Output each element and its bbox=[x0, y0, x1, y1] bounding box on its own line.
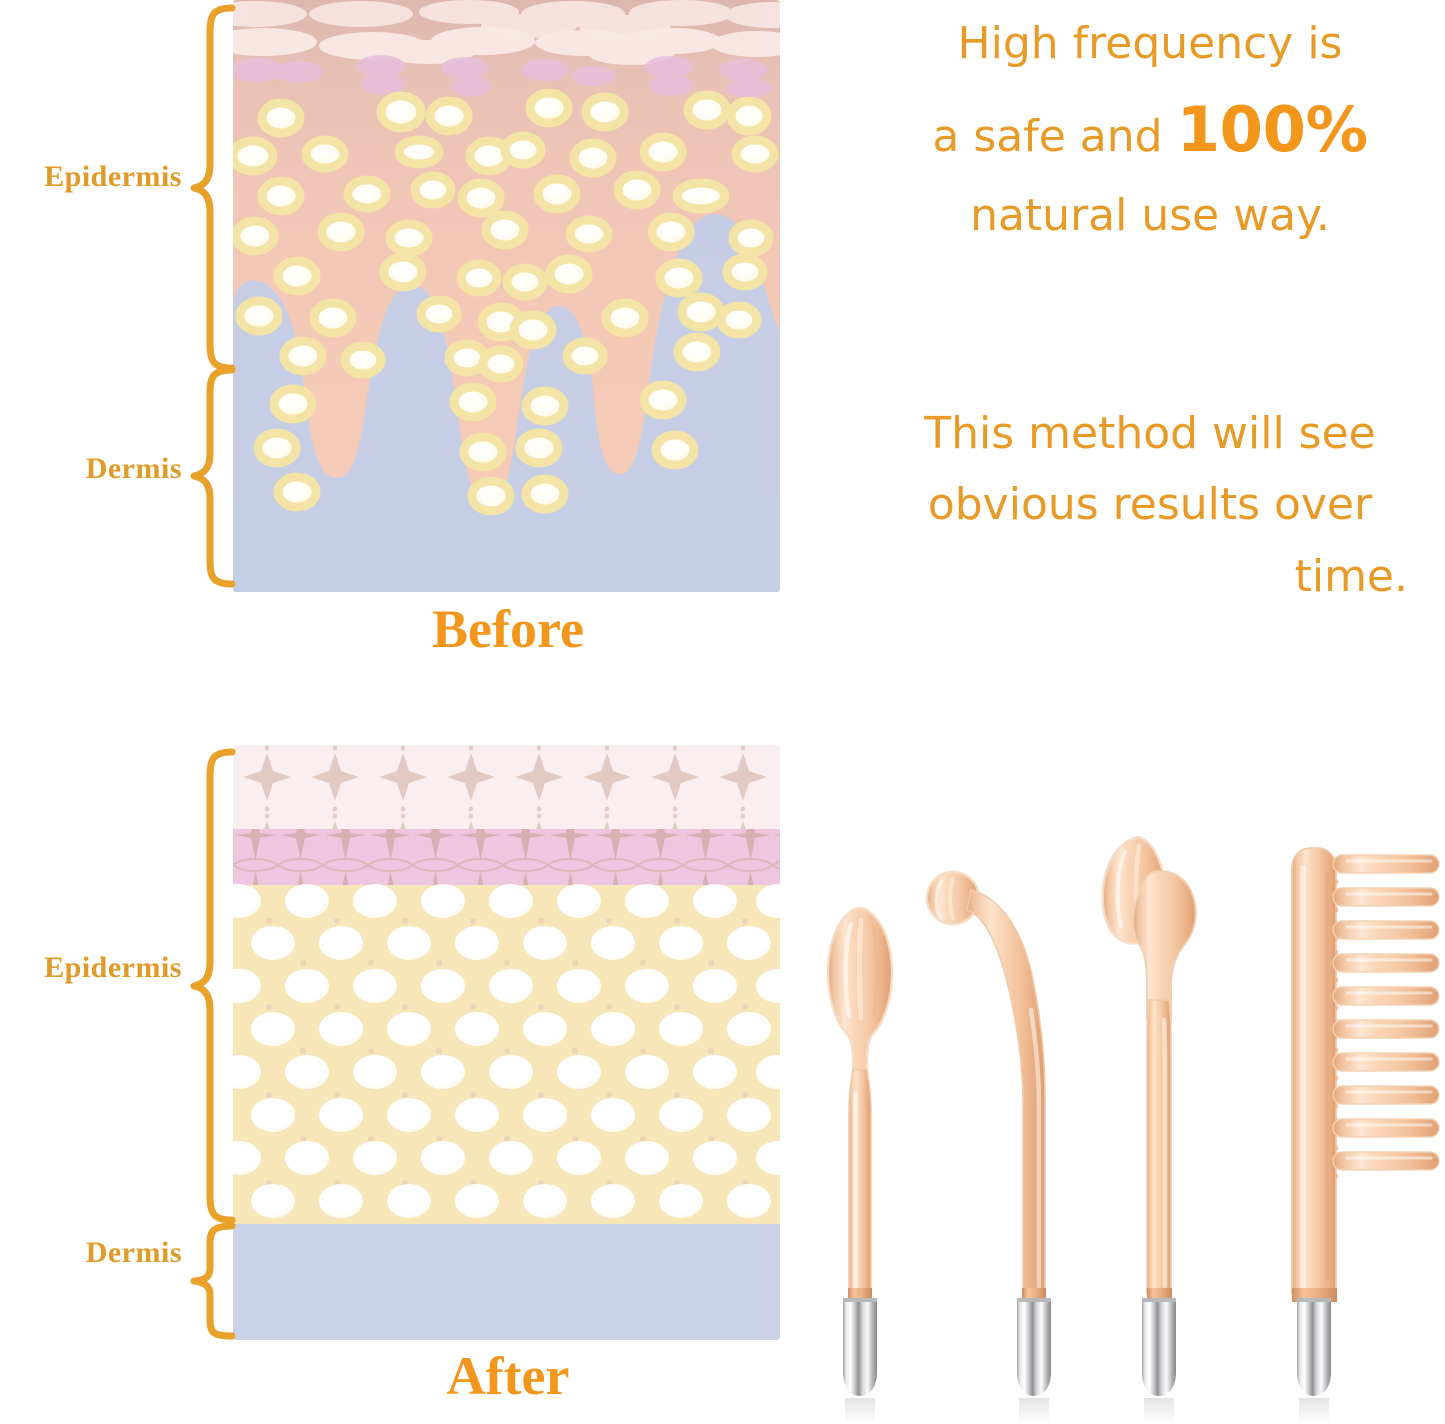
safety-claim-line-1: High frequency is bbox=[872, 8, 1428, 79]
bent-mushroom-electrode-wand bbox=[1103, 837, 1196, 1424]
safety-claim-line-2: a safe and 100% bbox=[872, 79, 1428, 180]
results-claim-line-1: This method will see bbox=[872, 398, 1428, 469]
after-dermis-label: Dermis bbox=[0, 1236, 182, 1270]
results-claim-line-3: time. bbox=[872, 541, 1428, 612]
electrode-wand-group bbox=[795, 820, 1445, 1424]
bent-ball-electrode-wand bbox=[927, 872, 1051, 1424]
before-dermis-bracket bbox=[190, 366, 236, 588]
results-claim-text: This method will see obvious results ove… bbox=[872, 398, 1428, 612]
comb-electrode-wand bbox=[1292, 848, 1439, 1424]
safety-claim-text: High frequency is a safe and 100% natura… bbox=[872, 8, 1428, 252]
results-claim-line-2: obvious results over bbox=[872, 469, 1428, 540]
before-skin-diagram bbox=[233, 0, 780, 592]
before-caption: Before bbox=[333, 598, 683, 660]
after-caption: After bbox=[333, 1345, 683, 1407]
mushroom-electrode-wand bbox=[828, 908, 892, 1424]
after-epidermis-bracket bbox=[190, 748, 236, 1226]
infographic-canvas: Epidermis Dermis Before bbox=[0, 0, 1445, 1424]
safety-claim-line-3: natural use way. bbox=[872, 180, 1428, 251]
after-skin-diagram bbox=[233, 745, 780, 1340]
before-dermis-label: Dermis bbox=[0, 452, 182, 486]
before-epidermis-label: Epidermis bbox=[0, 160, 182, 194]
after-dermis-bracket bbox=[190, 1222, 236, 1340]
before-epidermis-bracket bbox=[190, 4, 236, 372]
percent-highlight: 100% bbox=[1177, 93, 1368, 166]
after-epidermis-label: Epidermis bbox=[0, 951, 182, 985]
